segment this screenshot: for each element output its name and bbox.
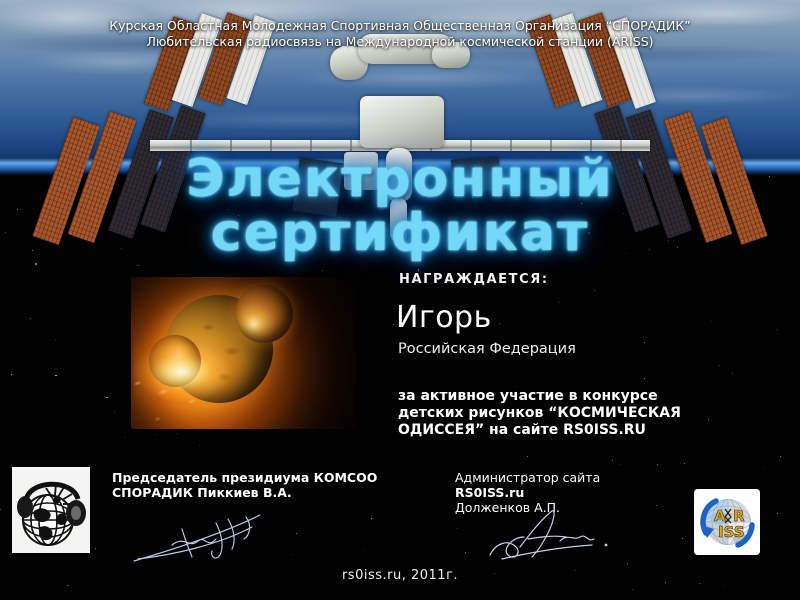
module — [344, 152, 378, 190]
ariss-logo: A R ISS — [694, 489, 760, 555]
header-line-1: Курская Областная Молодежная Спортивная … — [0, 0, 800, 34]
left-signatory-line-1: Председатель президиума КОМСОО — [112, 470, 402, 485]
radiator-panel — [292, 157, 343, 217]
recipient-name: Игорь — [396, 300, 492, 335]
module — [386, 148, 412, 202]
header-line-2: Любительская радиосвязь на Международной… — [0, 34, 800, 50]
komsoo-sporadik-globe-headphones-logo — [12, 467, 90, 553]
left-signature-image — [128, 505, 288, 567]
colliding-planets-artwork — [131, 277, 356, 429]
site-name: RS0ISS.ru — [455, 485, 524, 500]
organization-header: Курская Областная Молодежная Спортивная … — [0, 0, 800, 50]
award-reason-line-3: ОДИССЕЯ” на сайте RS0ISS.RU — [398, 422, 758, 439]
award-reason: за активное участие в конкурсе детских р… — [398, 388, 758, 439]
award-reason-line-2: детских рисунков “КОСМИЧЕСКАЯ — [398, 405, 758, 422]
award-reason-line-1: за активное участие в конкурсе — [398, 388, 758, 405]
radiator-panel — [451, 156, 501, 193]
left-signatory-title: Председатель президиума КОМСОО СПОРАДИК … — [112, 470, 402, 500]
footer-url: rs0iss.ru, 2011г. — [0, 568, 800, 583]
awarded-label: НАГРАЖДАЕТСЯ: — [399, 272, 549, 287]
right-signatory-line-1: Администратор сайта — [455, 470, 705, 485]
recipient-country: Российская Федерация — [398, 341, 576, 357]
core-module — [360, 96, 444, 148]
certificate: Курская Областная Молодежная Спортивная … — [0, 0, 800, 600]
module — [390, 198, 407, 242]
left-signatory-line-2: СПОРАДИК Пиккиев В.А. — [112, 485, 402, 500]
right-signature-image — [482, 503, 642, 565]
ariss-text-bottom: ISS — [718, 523, 745, 541]
